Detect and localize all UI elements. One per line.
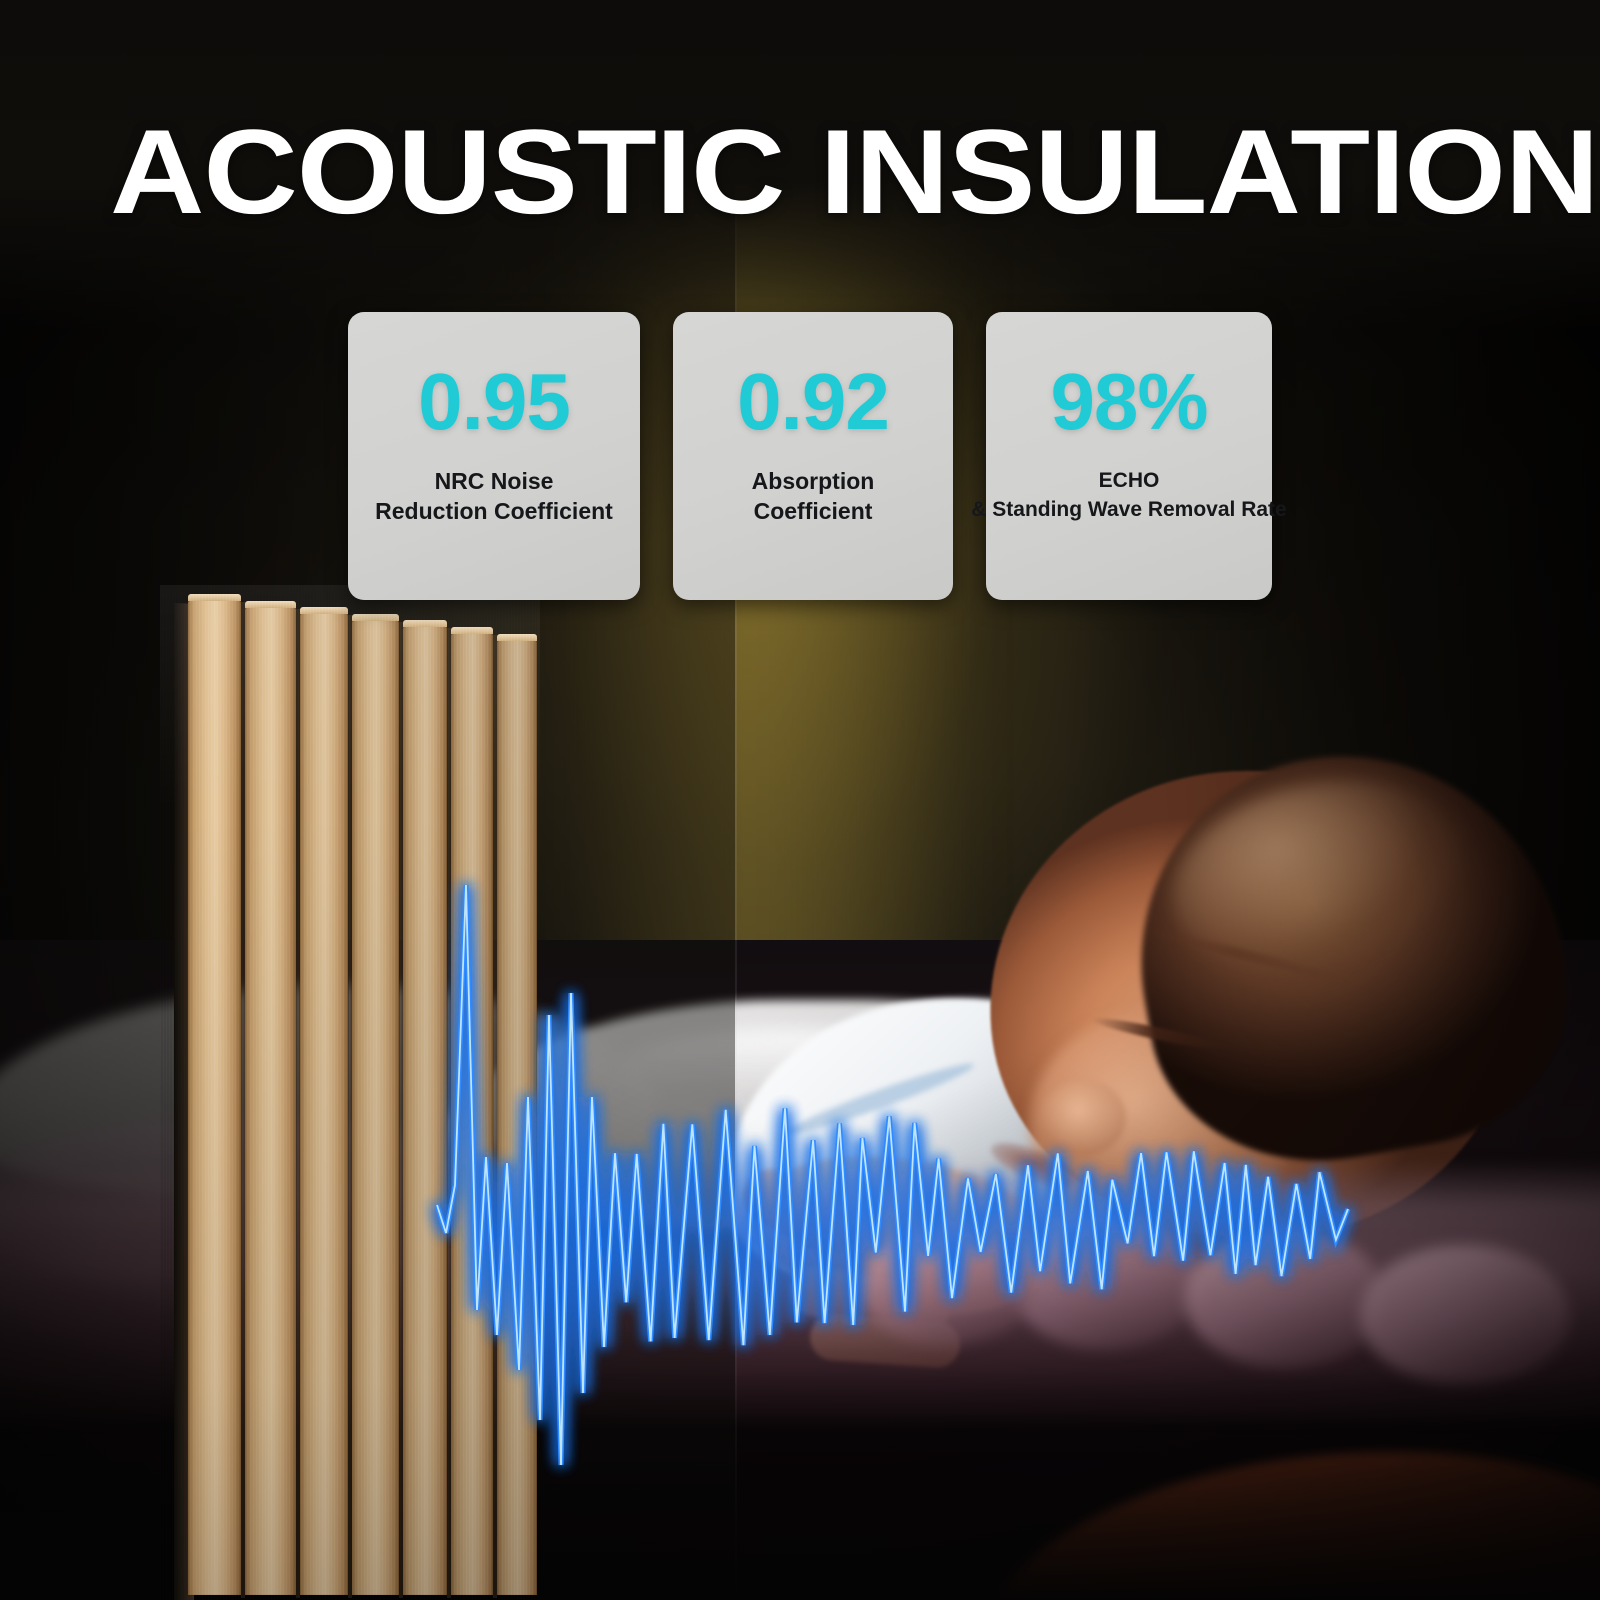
stat-label-absorption: Absorption Coefficient	[752, 466, 875, 526]
stat-label-echo: ECHO & Standing Wave Removal Rate	[971, 466, 1286, 524]
stat-card-echo[interactable]: 98% ECHO & Standing Wave Removal Rate	[986, 312, 1272, 600]
stat-label-line2: & Standing Wave Removal Rate	[971, 498, 1286, 521]
stat-value-nrc: 0.95	[418, 360, 570, 444]
stat-label-line1: NRC Noise	[435, 468, 554, 494]
stat-value-echo: 98%	[1050, 360, 1207, 444]
stat-label-line1: Absorption	[752, 468, 875, 494]
stat-label-nrc: NRC Noise Reduction Coefficient	[375, 466, 613, 526]
stat-label-line1: ECHO	[1099, 469, 1160, 492]
stat-card-absorption[interactable]: 0.92 Absorption Coefficient	[673, 312, 953, 600]
stat-label-line2: Reduction Coefficient	[375, 498, 613, 524]
stat-card-row: 0.95 NRC Noise Reduction Coefficient 0.9…	[0, 0, 1600, 1600]
stat-label-line2: Coefficient	[754, 498, 873, 524]
stat-value-absorption: 0.92	[737, 360, 889, 444]
acoustic-insulation-infographic: ACOUSTIC INSULATION 0.95 NRC Noise Reduc…	[0, 0, 1600, 1600]
stat-card-nrc[interactable]: 0.95 NRC Noise Reduction Coefficient	[348, 312, 640, 600]
